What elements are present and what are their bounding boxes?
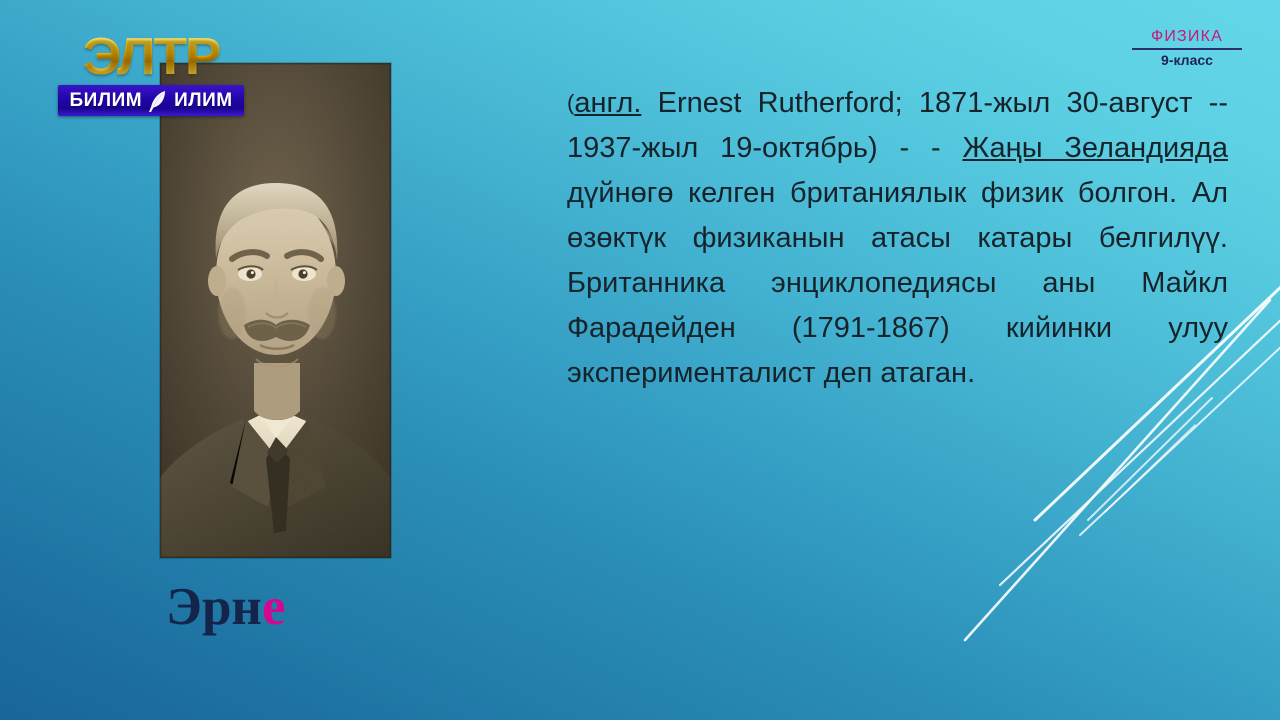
- birth-date: 1871-жыл 30-август: [919, 87, 1193, 119]
- slide-canvas: ЭЛТР БИЛИМ ИЛИМ ФИЗИКА 9-класс: [0, 0, 1280, 720]
- birthplace-link[interactable]: Жаңы Зеландияда: [962, 132, 1228, 164]
- death-date: 1937-жыл 19-октябрь): [567, 132, 878, 164]
- date-dash: --: [1209, 87, 1228, 119]
- language-source-link[interactable]: англ.: [574, 87, 641, 119]
- logo-banner-left-label: БИЛИМ: [69, 91, 142, 110]
- caption-cursor-char: е: [262, 578, 286, 636]
- subject-name: ФИЗИКА: [1132, 28, 1242, 48]
- biography-sentence-1: дүйнөгө келген британиялык физик болгон.…: [567, 177, 1228, 254]
- biography-text: (англ. Ernest Rutherford; 1871-жыл 30-ав…: [567, 80, 1228, 396]
- sentence-lead-dash: - -: [900, 132, 941, 164]
- subject-divider: [1132, 48, 1242, 50]
- portrait-photo: [160, 63, 391, 558]
- subject-grade: 9-класс: [1132, 52, 1242, 68]
- feather-quill-icon: [145, 88, 171, 114]
- person-name-caption: Эрне: [166, 578, 286, 636]
- subject-badge: ФИЗИКА 9-класс: [1132, 28, 1242, 68]
- logo-banner: БИЛИМ ИЛИМ: [58, 85, 244, 116]
- name-latin: Ernest Rutherford;: [658, 87, 903, 119]
- biography-sentence-2: Британника энциклопедиясы аны Майкл Фара…: [567, 267, 1228, 389]
- logo-banner-right-label: ИЛИМ: [174, 91, 232, 110]
- channel-logo: ЭЛТР БИЛИМ ИЛИМ: [58, 30, 244, 116]
- caption-typed-text: Эрн: [166, 578, 262, 636]
- logo-wordmark: ЭЛТР: [53, 30, 248, 84]
